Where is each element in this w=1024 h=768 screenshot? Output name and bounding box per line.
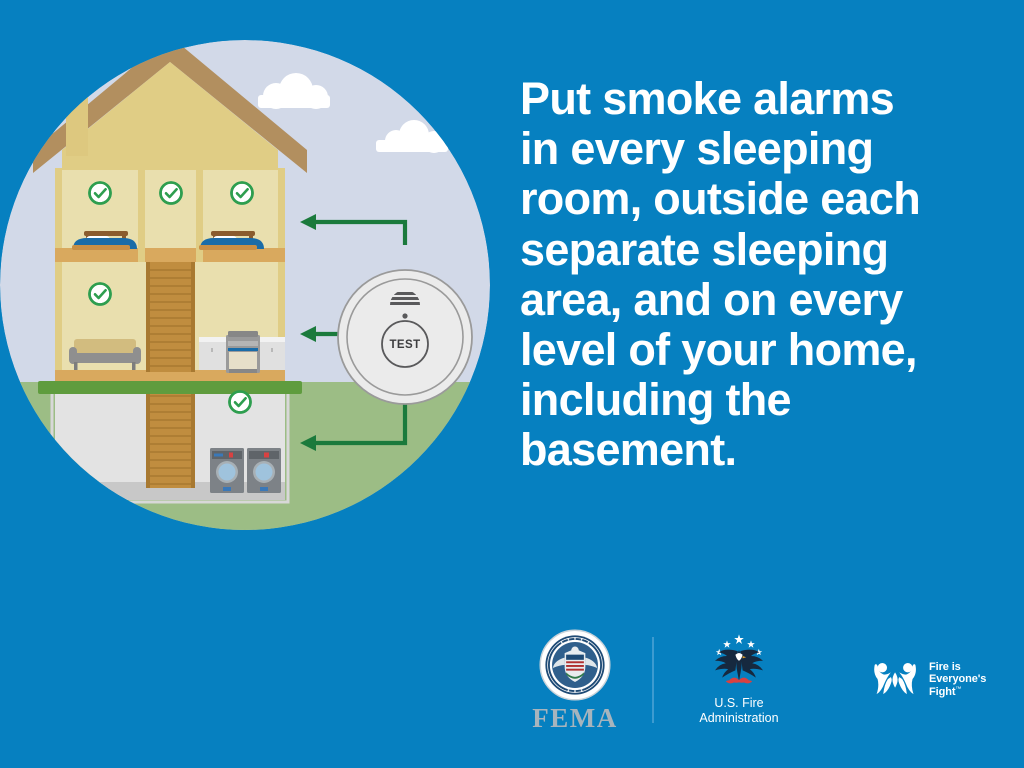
fire-is-everyones-fight-logo: Fire is Everyone's Fight™ <box>870 658 986 702</box>
logo-divider <box>652 637 654 723</box>
main-level-left-siding <box>55 262 62 384</box>
fief-line-1: Fire is <box>929 661 986 673</box>
upper-floor-beam-left <box>55 248 138 262</box>
usfa-eagle-icon <box>703 633 775 691</box>
stove <box>226 331 260 373</box>
headline-text: Put smoke alarms in every sleeping room,… <box>520 74 990 475</box>
washer-unit <box>210 448 244 493</box>
upper-floor-beam-right <box>203 248 285 262</box>
house-illustration-svg: TEST <box>0 0 500 560</box>
ground-line <box>38 381 302 394</box>
fief-trademark: ™ <box>955 686 961 692</box>
fief-line-3-text: Fight <box>929 686 955 698</box>
dryer-unit <box>247 448 281 493</box>
usfa-logo: U.S. Fire Administration <box>676 633 802 726</box>
fief-line-3: Fight™ <box>929 686 986 698</box>
usfa-line-1: U.S. Fire <box>699 696 778 711</box>
main-stairs <box>146 262 195 372</box>
upper-floor-beam-mid <box>145 248 196 262</box>
two-figures-flame-icon <box>870 658 922 702</box>
fief-line-2: Everyone's <box>929 673 986 685</box>
smoke-alarm[interactable]: TEST <box>338 270 472 404</box>
fema-wordmark: FEMA <box>532 705 617 732</box>
checkmark-bedroom-right-upper <box>232 183 253 204</box>
usfa-line-2: Administration <box>699 711 778 726</box>
alarm-test-label: TEST <box>390 339 421 351</box>
alarm-led-indicator <box>402 313 407 318</box>
upper-right-siding <box>278 168 285 262</box>
fema-logo: FEMA <box>520 628 630 732</box>
homeland-security-seal-icon <box>538 628 612 702</box>
usfa-wordmark: U.S. Fire Administration <box>699 696 778 726</box>
logo-bar: FEMA <box>500 622 1000 737</box>
basement-stairs <box>146 388 195 488</box>
checkmark-living-room-main <box>90 284 111 305</box>
partition-left <box>138 168 145 262</box>
poster-canvas: TEST Put smoke alarms in every sleeping … <box>0 0 1024 768</box>
checkmark-hallway-upper <box>161 183 182 204</box>
house-illustration: TEST <box>0 0 500 560</box>
upper-left-siding <box>55 168 62 262</box>
checkmark-basement-laundry <box>230 392 251 413</box>
fief-wordmark: Fire is Everyone's Fight™ <box>929 661 986 698</box>
checkmark-bedroom-left-upper <box>90 183 111 204</box>
scene-circle: TEST <box>0 36 500 560</box>
